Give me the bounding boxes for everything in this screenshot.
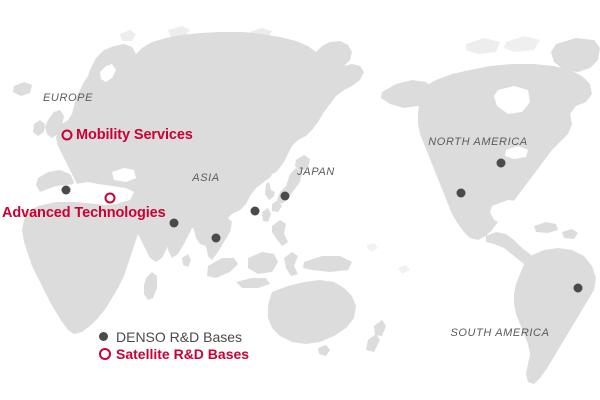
world-map-infographic: EUROPE ASIA JAPAN NORTH AMERICA SOUTH AM… — [0, 0, 600, 400]
legend-label-satellite: Satellite R&D Bases — [116, 346, 249, 362]
region-label-north-america: NORTH AMERICA — [428, 136, 527, 148]
denso-base-marker-europe[interactable] — [62, 186, 71, 195]
hollow-circle-icon — [99, 348, 111, 360]
satellite-base-marker-advanced-technologies[interactable] — [105, 193, 116, 204]
satellite-base-marker-mobility-services[interactable] — [62, 130, 73, 141]
legend-satellite-marker-cell — [99, 348, 116, 360]
map-legend: DENSO R&D Bases Satellite R&D Bases — [99, 328, 249, 362]
denso-base-marker-us-west[interactable] — [457, 189, 466, 198]
satellite-base-label-advanced-technologies: Advanced Technologies — [2, 205, 166, 221]
legend-row-satellite: Satellite R&D Bases — [99, 345, 249, 362]
legend-label-denso: DENSO R&D Bases — [116, 329, 242, 345]
denso-base-marker-brazil[interactable] — [574, 284, 583, 293]
filled-dot-icon — [99, 332, 108, 341]
denso-base-marker-thailand[interactable] — [212, 234, 221, 243]
legend-denso-marker-cell — [99, 332, 116, 341]
region-label-asia: ASIA — [192, 172, 219, 184]
denso-base-marker-china[interactable] — [251, 207, 260, 216]
denso-base-marker-us-midwest[interactable] — [497, 159, 506, 168]
denso-base-marker-japan[interactable] — [281, 192, 290, 201]
region-label-japan: JAPAN — [297, 166, 335, 178]
region-label-europe: EUROPE — [43, 92, 93, 104]
denso-base-marker-india[interactable] — [170, 219, 179, 228]
legend-row-denso: DENSO R&D Bases — [99, 328, 249, 345]
world-map-landmasses — [0, 0, 600, 400]
region-label-south-america: SOUTH AMERICA — [450, 327, 549, 339]
satellite-base-label-mobility-services: Mobility Services — [76, 127, 193, 143]
